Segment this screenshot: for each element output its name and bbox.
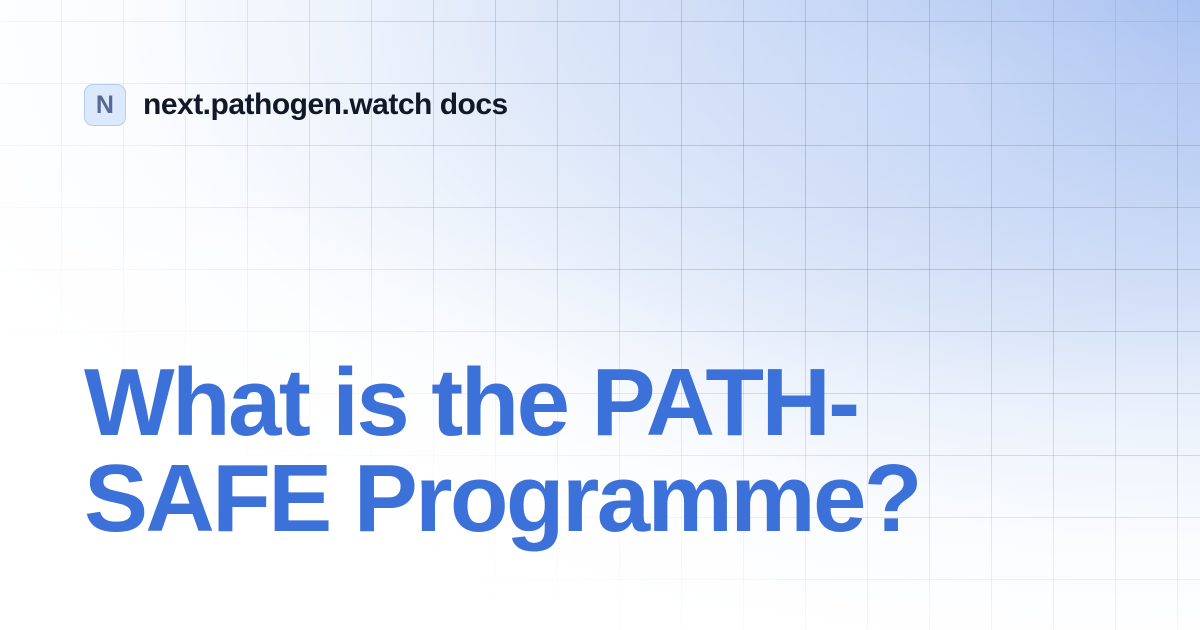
og-preview-card: N next.pathogen.watch docs What is the P… xyxy=(0,0,1200,630)
card-content: N next.pathogen.watch docs What is the P… xyxy=(0,0,1200,630)
brand-logo-icon: N xyxy=(84,84,126,126)
site-title: next.pathogen.watch docs xyxy=(143,90,508,120)
brand-lockup[interactable]: N next.pathogen.watch docs xyxy=(84,84,508,126)
page-title: What is the PATH-SAFE Programme? xyxy=(84,355,984,547)
